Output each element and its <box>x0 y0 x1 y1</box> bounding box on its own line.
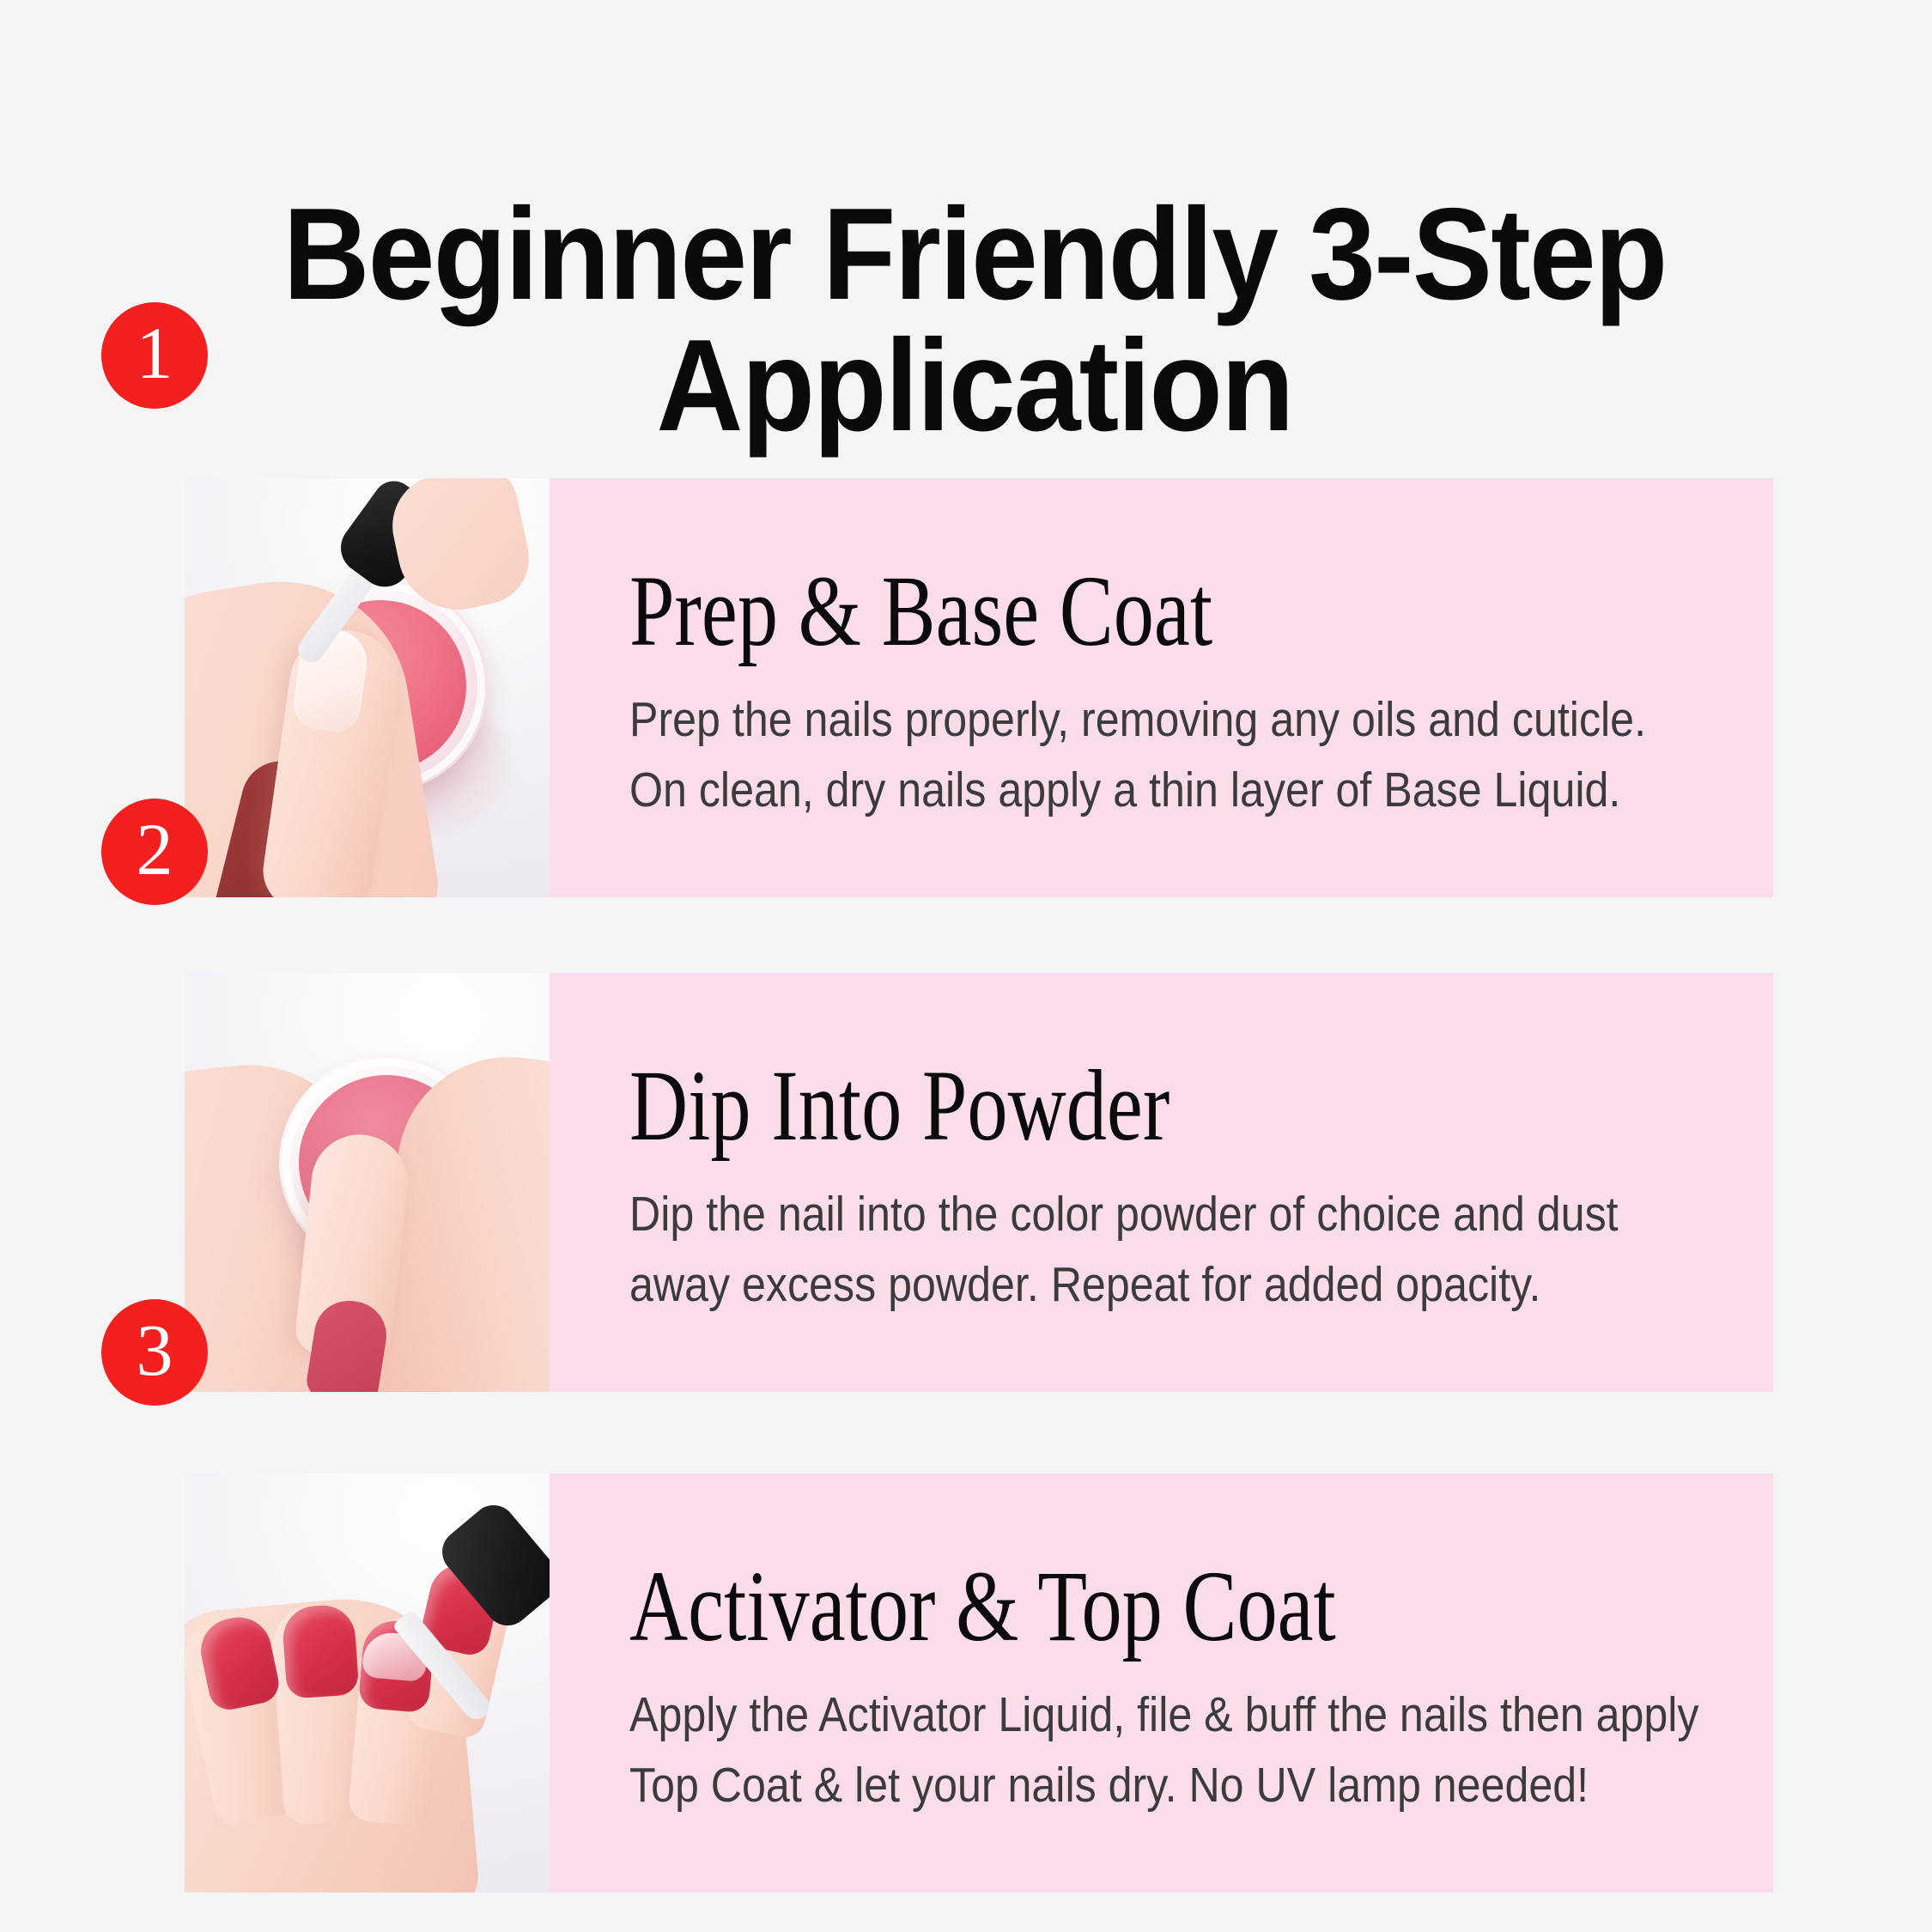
step-1-photo <box>185 478 550 897</box>
red-nail <box>281 1603 359 1699</box>
step-card-1: Prep & Base Coat Prep the nails properly… <box>185 478 1773 897</box>
step-3-photo <box>185 1473 550 1893</box>
step-badge-2: 2 <box>101 799 208 905</box>
step-2-body: Dip the nail into the color powder of ch… <box>629 1179 1707 1320</box>
step-3-body: Apply the Activator Liquid, file & buff … <box>629 1680 1707 1820</box>
infographic-page: Beginner Friendly 3-Step Application <box>0 0 1932 1932</box>
step-1-body: Prep the nails properly, removing any oi… <box>629 684 1707 825</box>
step-badge-3: 3 <box>101 1299 208 1406</box>
step-card-2: Dip Into Powder Dip the nail into the co… <box>185 973 1773 1392</box>
step-badge-1: 1 <box>101 302 208 409</box>
step-1-heading: Prep & Base Coat <box>629 561 1497 662</box>
steps-list: Prep & Base Coat Prep the nails properly… <box>0 0 1932 1932</box>
step-2-panel: Dip Into Powder Dip the nail into the co… <box>550 973 1773 1392</box>
step-2-heading: Dip Into Powder <box>629 1055 1497 1157</box>
step-2-photo <box>185 973 550 1392</box>
step-3-heading: Activator & Top Coat <box>629 1556 1497 1657</box>
step-card-3: Activator & Top Coat Apply the Activator… <box>185 1473 1773 1893</box>
step-3-panel: Activator & Top Coat Apply the Activator… <box>550 1473 1773 1893</box>
step-1-panel: Prep & Base Coat Prep the nails properly… <box>550 478 1773 897</box>
